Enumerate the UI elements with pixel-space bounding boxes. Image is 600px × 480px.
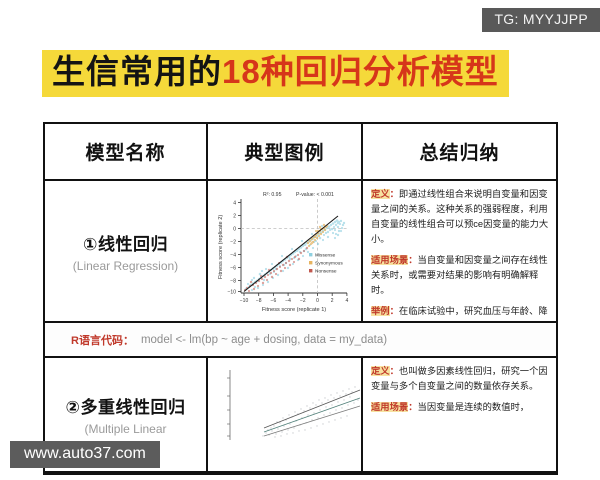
r-code-label: R语言代码： (71, 332, 134, 348)
svg-text:4: 4 (346, 298, 349, 304)
table-row: ①线性回归 (Linear Regression) R²: 0.95 P-val… (45, 181, 556, 323)
x-axis-label: Fitness score (replicate 1) (262, 307, 326, 313)
model-name-en-2: (Multiple Linear (84, 422, 166, 436)
scatter-svg: R²: 0.95 P-value: < 0.001 4 2 0 −2 −4 (208, 181, 361, 321)
svg-text:0: 0 (316, 298, 319, 304)
svg-text:−2: −2 (300, 298, 306, 304)
svg-text:−6: −6 (230, 265, 236, 271)
site-watermark: www.auto37.com (10, 441, 160, 468)
r-code-text: model <- lm(bp ~ age + dosing, data = my… (141, 334, 387, 346)
svg-text:0: 0 (233, 226, 236, 232)
summary-usecase-2: 适用场景：当因变量是连续的数值时， (371, 400, 549, 415)
chart-legend: Missense Synonymous Nonsense (309, 252, 343, 274)
svg-text:−10: −10 (228, 290, 237, 296)
svg-text:−8: −8 (256, 298, 262, 304)
title-number: 18 (222, 53, 261, 90)
scatter-points-2 (262, 386, 358, 437)
y-axis-ticks: 4 2 0 −2 −4 −6 −8 −10 (228, 200, 241, 295)
svg-text:4: 4 (233, 200, 236, 206)
summary-usecase-1: 适用场景：当自变量和因变量之间存在线性关系时，或需要对结果的影响有明确解释时。 (371, 253, 549, 298)
poster-page: TG: MYYJJPP 生信常用的18种回归分析模型 模型名称 典型图例 总结归… (0, 0, 600, 480)
header-model-name: 模型名称 (45, 124, 208, 181)
telegram-watermark: TG: MYYJJPP (482, 8, 600, 32)
legend-synonymous: Synonymous (315, 260, 343, 266)
model-name-en-1: (Linear Regression) (73, 259, 178, 273)
summary-definition-2: 定义：也叫做多因素线性回归，研究一个因变量与多个自变量之间的数量依存关系。 (371, 364, 549, 394)
scatter-svg-2 (208, 358, 361, 471)
chart-cell-2 (208, 358, 363, 473)
model-name-cn-2: ②多重线性回归 (66, 393, 186, 418)
svg-text:−4: −4 (230, 252, 236, 258)
summary-cell-2: 定义：也叫做多因素线性回归，研究一个因变量与多个自变量之间的数量依存关系。 适用… (363, 358, 556, 473)
page-title: 生信常用的18种回归分析模型 (42, 50, 558, 97)
y-axis-label: Fitness score (replicate 2) (218, 215, 224, 279)
legend-nonsense: Nonsense (315, 268, 337, 274)
x-axis-ticks: −10 −8 −6 −4 −2 0 2 4 (240, 293, 349, 304)
scatter-chart-linear-regression: R²: 0.95 P-value: < 0.001 4 2 0 −2 −4 (208, 181, 361, 321)
chart-cell-1: R²: 0.95 P-value: < 0.001 4 2 0 −2 −4 (208, 181, 363, 323)
title-part-3: 种回归分析模型 (261, 53, 499, 90)
summary-cell-1: 定义：即通过线性组合来说明自变量和因变量之间的关系。这种关系的强弱程度，利用自变… (363, 181, 556, 323)
svg-text:−6: −6 (271, 298, 277, 304)
svg-text:−8: −8 (230, 278, 236, 284)
svg-text:−2: −2 (230, 239, 236, 245)
header-typical-plot: 典型图例 (208, 124, 363, 181)
title-part-1: 生信常用的 (52, 53, 222, 90)
model-name-cn-1: ①线性回归 (83, 230, 168, 255)
r-code-row: R语言代码： model <- lm(bp ~ age + dosing, da… (45, 323, 556, 358)
chart-annotation-r2: R²: 0.95 (263, 192, 282, 198)
svg-text:2: 2 (331, 298, 334, 304)
header-summary: 总结归纳 (363, 124, 556, 181)
scatter-chart-multiple-regression (208, 358, 361, 471)
r-code-cell: R语言代码： model <- lm(bp ~ age + dosing, da… (45, 323, 556, 358)
svg-text:−10: −10 (240, 298, 249, 304)
models-table: 模型名称 典型图例 总结归纳 ①线性回归 (Linear Regression) (43, 122, 558, 475)
reference-lines (241, 199, 347, 293)
summary-example-1: 举例：在临床试验中，研究血压与年龄、降压药剂量之间的关系。 (371, 304, 549, 321)
svg-text:2: 2 (233, 213, 236, 219)
summary-definition-1: 定义：即通过线性组合来说明自变量和因变量之间的关系。这种关系的强弱程度，利用自变… (371, 187, 549, 247)
legend-missense: Missense (315, 252, 336, 258)
chart-annotation-pvalue: P-value: < 0.001 (296, 192, 334, 198)
svg-text:−4: −4 (285, 298, 291, 304)
model-name-cell-1: ①线性回归 (Linear Regression) (45, 181, 208, 323)
table-header-row: 模型名称 典型图例 总结归纳 (45, 124, 556, 181)
